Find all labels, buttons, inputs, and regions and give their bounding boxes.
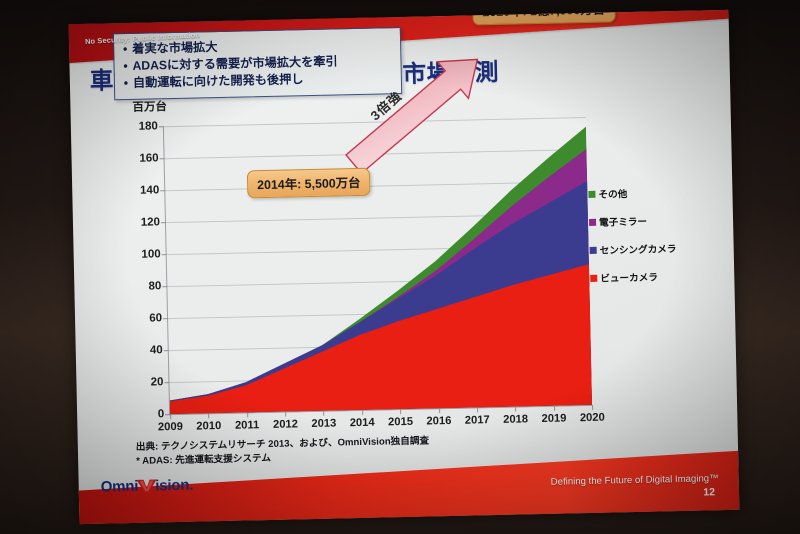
x-tick-mark [439, 408, 440, 413]
legend-label: その他 [598, 186, 627, 201]
legend-label: センシングカメラ [600, 241, 677, 257]
x-tick-label: 2013 [311, 418, 336, 431]
chart-plot-area: 020406080100120140160180 200920102011201… [163, 117, 592, 415]
y-tick-label: 40 [150, 344, 163, 356]
x-tick-label: 2012 [273, 418, 298, 431]
x-tick-label: 2014 [350, 417, 375, 430]
stacked-area-series [164, 117, 592, 414]
legend-item: 電子ミラー [589, 213, 663, 229]
callout-2014: 2014年: 5,500万台 [247, 168, 371, 199]
x-tick-mark [247, 412, 248, 417]
y-tick-label: 80 [148, 280, 161, 292]
y-axis-unit-label: 百万台 [132, 98, 167, 115]
market-forecast-chart: 020406080100120140160180 200920102011201… [101, 107, 668, 439]
y-tick-label: 140 [140, 184, 159, 196]
logo-text-left: Omni [101, 478, 139, 496]
x-tick-label: 2016 [426, 415, 451, 428]
x-tick-mark [477, 407, 478, 412]
legend-swatch-icon [589, 218, 596, 225]
legend-item: センシングカメラ [590, 241, 664, 257]
y-tick-label: 180 [139, 120, 158, 132]
y-tick-label: 60 [149, 312, 162, 324]
bullet-dot: • [119, 75, 133, 91]
x-tick-label: 2015 [388, 416, 413, 429]
legend-swatch-icon [588, 190, 595, 197]
area-series-svg [164, 117, 592, 414]
y-tick-label: 160 [139, 152, 158, 164]
logo-text-right: ision. [155, 477, 193, 495]
legend-label: ビューカメラ [600, 269, 658, 284]
chart-legend: その他電子ミラーセンシングカメラビューカメラ [588, 185, 664, 299]
legend-label: 電子ミラー [599, 214, 647, 229]
x-tick-label: 2018 [503, 413, 528, 426]
bullet-text: 自動運転に向けた開発も後押し [133, 71, 304, 91]
legend-swatch-icon [590, 274, 597, 281]
x-tick-label: 2020 [580, 412, 605, 425]
x-tick-label: 2019 [541, 412, 566, 425]
page-number: 12 [703, 486, 715, 498]
x-tick-mark [170, 414, 171, 419]
x-tick-label: 2009 [158, 421, 183, 434]
projected-slide-photo: No Security: Public Information 車載イメージセン… [0, 0, 800, 534]
y-tick-label: 0 [158, 408, 165, 420]
x-tick-mark [554, 406, 555, 411]
slide-plane: No Security: Public Information 車載イメージセン… [69, 10, 740, 524]
y-tick-label: 100 [141, 248, 160, 260]
x-tick-mark [209, 413, 210, 418]
slide-canvas: No Security: Public Information 車載イメージセン… [69, 10, 740, 524]
x-tick-mark [324, 411, 325, 416]
omnivision-logo: Omni ision. [101, 477, 194, 496]
x-tick-label: 2010 [196, 420, 221, 433]
bullet-dot: • [118, 58, 132, 74]
x-tick-mark [400, 409, 401, 414]
x-tick-label: 2011 [235, 419, 260, 432]
x-tick-label: 2017 [465, 414, 490, 427]
v-mark-icon [135, 478, 157, 493]
legend-swatch-icon [590, 246, 597, 253]
x-tick-mark [515, 407, 516, 412]
legend-item: ビューカメラ [590, 269, 664, 285]
y-tick-label: 20 [151, 376, 164, 388]
x-tick-mark [285, 412, 286, 417]
x-tick-mark [592, 405, 593, 410]
legend-item: その他 [588, 185, 662, 201]
area-0 [167, 264, 592, 414]
y-tick-label: 120 [141, 216, 160, 228]
x-tick-mark [362, 410, 363, 415]
